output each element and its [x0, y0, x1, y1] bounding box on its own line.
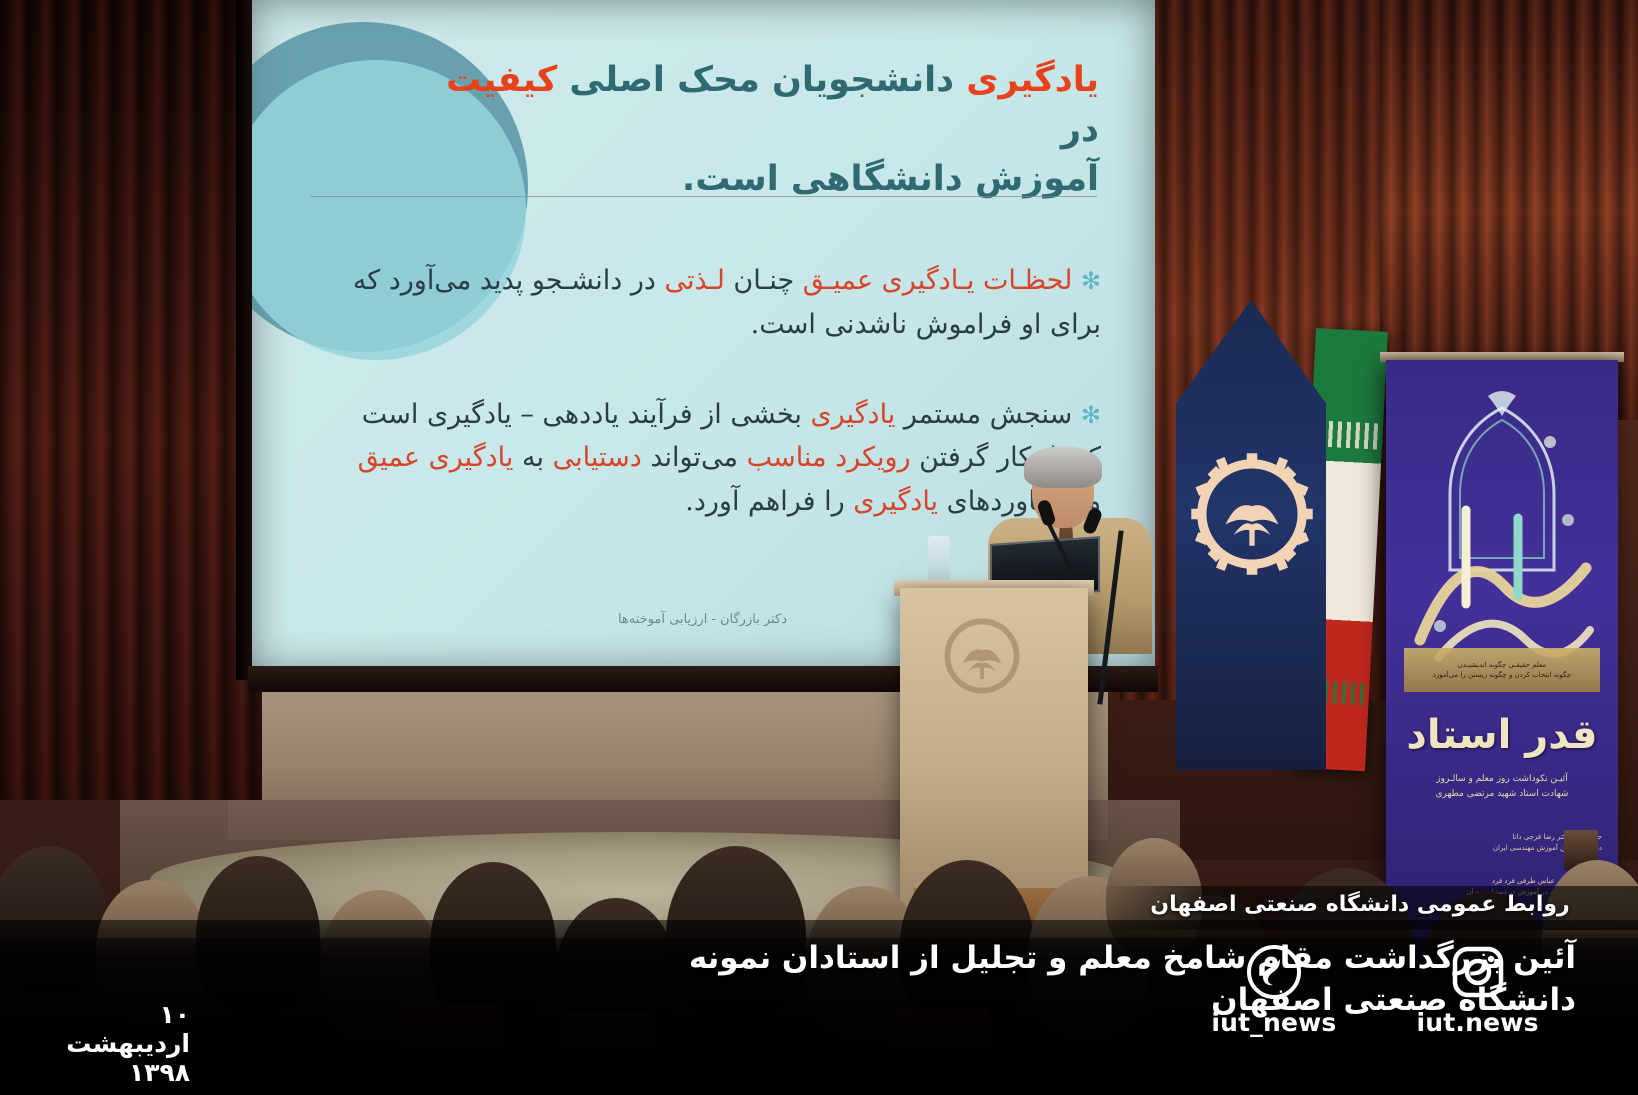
bullet2-part-4: رویکرد مناسب [747, 442, 911, 473]
bullet2-part-5: می‌تواند [642, 442, 747, 473]
bullet-star-icon-2: ✻ [1081, 401, 1101, 429]
bullet1-part-3: لـذتی [664, 265, 724, 296]
slide-title-line2: آموزش دانشگاهی است. [414, 155, 1099, 205]
slide-divider [310, 196, 1097, 197]
social-soroush[interactable]: iut_news [1211, 944, 1336, 1037]
instagram-handle[interactable]: iut.news [1417, 1008, 1539, 1037]
caption-date: ۱۰ اردیبهشت ۱۳۹۸ [30, 1000, 190, 1087]
screen-frame-edge [236, 0, 252, 680]
banner-subtitle: آئیـن نکوداشت روز معلم و سالـروز شهادت ا… [1402, 772, 1602, 803]
slide-title: یادگیری دانشجویان محک اصلی کیفیت در آموز… [414, 56, 1099, 205]
podium-emblem-icon [934, 608, 1030, 704]
bullet1-part-2: چنـان [725, 265, 803, 296]
bullet1-part-1: لحظـات یـادگیری عمیـق [803, 265, 1081, 296]
banner-quote-strip: معلم حقیقـی چگونه اندیشیـدن چگونه انتخاب… [1404, 648, 1600, 692]
social-instagram[interactable]: iut.news [1417, 944, 1539, 1037]
soroush-icon[interactable] [1246, 944, 1302, 1000]
bullet2-part-11: را فراهم آورد. [685, 486, 853, 517]
slide-title-part-2: دانشجویان محک اصلی [557, 60, 966, 100]
event-photo: یادگیری دانشجویان محک اصلی کیفیت در آموز… [0, 0, 1638, 1095]
bullet2-part-10: یادگیری [853, 486, 938, 517]
banner-quote-line2: چگونه انتخاب کردن و چگونه زیستن را می‌آم… [1433, 670, 1571, 681]
slide-title-part-3: در [1061, 110, 1099, 150]
bullet2-part-6: دستیابی [553, 442, 642, 473]
slide-title-highlight-1: یادگیری [966, 60, 1099, 100]
banner-calligraphy-art [1400, 390, 1604, 680]
stage-curtain-left [0, 0, 262, 800]
bullet-star-icon: ✻ [1081, 267, 1101, 295]
speaker-hair [1024, 446, 1102, 488]
bullet2-part-1: سنجش مستمر [895, 399, 1081, 430]
iut-emblem-icon [1186, 448, 1318, 580]
soroush-handle[interactable]: iut_news [1211, 1008, 1336, 1037]
water-glass [928, 536, 950, 586]
banner-subtitle-line1: آئیـن نکوداشت روز معلم و سالـروز [1402, 772, 1602, 787]
banner-title: قدر استاد [1386, 712, 1618, 758]
instagram-icon[interactable] [1450, 944, 1506, 1000]
bullet2-part-2: یادگیری [811, 399, 896, 430]
bullet2-part-8: یادگیری عمیق [358, 442, 514, 473]
social-links: iut_news iut.news [1140, 944, 1610, 1084]
public-relations-label: روابط عمومی دانشگاه صنعتی اصفهان [1100, 892, 1620, 917]
banner-quote-line1: معلم حقیقـی چگونه اندیشیـدن [1433, 660, 1571, 671]
bullet2-part-7: به [513, 442, 552, 473]
banner-subtitle-line2: شهادت استاد شهید مرتضی مطهری [1402, 787, 1602, 802]
slide-title-highlight-2: کیفیت [446, 60, 557, 100]
slide-bullet-1: ✻ لحظـات یـادگیری عمیـق چنـان لـذتی در د… [350, 259, 1101, 346]
